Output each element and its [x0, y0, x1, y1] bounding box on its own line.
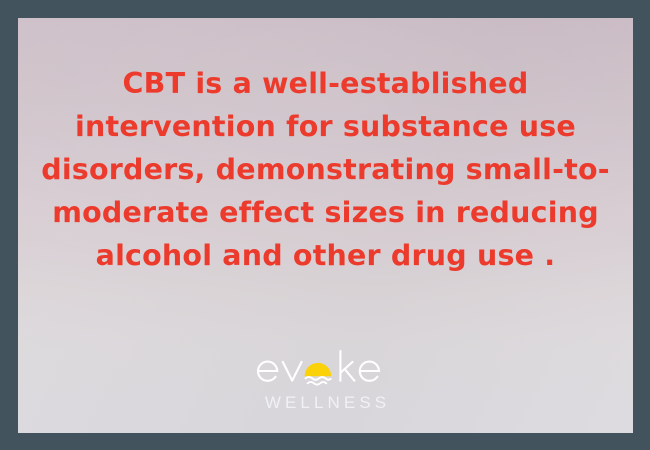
quote-line-4: moderate effect sizes in reducing	[40, 191, 611, 234]
quote-line-3: disorders, demonstrating small-to-	[40, 148, 611, 191]
quote-line-1: CBT is a well-established	[40, 62, 611, 105]
evoke-wellness-logo: WELLNESS	[18, 348, 633, 413]
quote-card-panel: CBT is a well-established intervention f…	[18, 18, 633, 433]
quote-line-2: intervention for substance use	[40, 105, 611, 148]
quote-text-block: CBT is a well-established intervention f…	[18, 62, 633, 277]
letter-e2-icon	[359, 362, 378, 381]
quote-card-frame: CBT is a well-established intervention f…	[0, 0, 650, 450]
evoke-wordmark	[255, 348, 397, 394]
quote-line-5: alcohol and other drug use .	[40, 234, 611, 277]
letter-v-icon	[282, 362, 301, 381]
letter-e-icon	[258, 362, 277, 381]
sunrise-over-water-icon	[304, 363, 331, 385]
logo-subtitle: WELLNESS	[261, 393, 390, 413]
letter-k-icon	[340, 351, 354, 381]
